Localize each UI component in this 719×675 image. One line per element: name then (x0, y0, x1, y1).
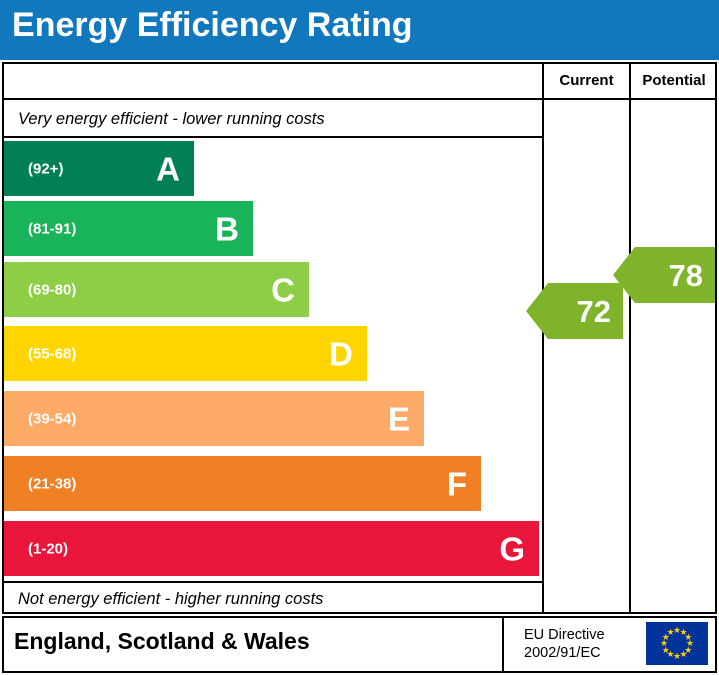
potential-rating-value: 78 (669, 260, 703, 291)
eu-star-icon: ★ (666, 628, 675, 637)
caption-bottom-divider (2, 581, 542, 583)
caption-top-divider (2, 136, 542, 138)
band-e-letter: E (388, 402, 410, 435)
band-a-letter: A (156, 152, 180, 185)
band-g-range: (1-20) (28, 540, 68, 557)
header-row-divider (2, 98, 717, 100)
epc-chart: Energy Efficiency Rating Current Potenti… (0, 0, 719, 675)
column-header-potential: Potential (631, 72, 717, 89)
band-f-letter: F (447, 467, 467, 500)
band-a: (92+) A (4, 141, 194, 196)
band-b: (81-91) B (4, 201, 253, 256)
band-c: (69-80) C (4, 262, 309, 317)
band-f-range: (21-38) (28, 475, 76, 492)
caption-bottom: Not energy efficient - higher running co… (18, 590, 323, 609)
band-e: (39-54) E (4, 391, 424, 446)
current-rating-marker: 72 (548, 283, 623, 339)
band-g-letter: G (499, 532, 525, 565)
eu-directive-label: EU Directive 2002/91/EC (524, 626, 605, 662)
footer-divider (502, 616, 504, 673)
chart-header: Energy Efficiency Rating (0, 0, 719, 60)
band-c-letter: C (271, 273, 295, 306)
eu-directive-line2: 2002/91/EC (524, 645, 601, 661)
eu-flag-icon: ★★★★★★★★★★★★ (646, 622, 708, 665)
band-g: (1-20) G (4, 521, 539, 576)
eu-directive-line1: EU Directive (524, 627, 605, 643)
column-divider-potential (629, 62, 631, 614)
current-marker-arrow-icon (526, 283, 548, 339)
current-rating-value: 72 (577, 296, 611, 327)
band-d-range: (55-68) (28, 345, 76, 362)
band-a-range: (92+) (28, 160, 63, 177)
potential-marker-arrow-icon (613, 247, 635, 303)
region-label: England, Scotland & Wales (14, 628, 310, 655)
band-c-range: (69-80) (28, 281, 76, 298)
band-b-range: (81-91) (28, 220, 76, 237)
band-b-letter: B (215, 212, 239, 245)
caption-top: Very energy efficient - lower running co… (18, 110, 325, 129)
page-title: Energy Efficiency Rating (12, 6, 413, 45)
band-e-range: (39-54) (28, 410, 76, 427)
potential-rating-marker: 78 (635, 247, 715, 303)
band-d-letter: D (329, 337, 353, 370)
band-f: (21-38) F (4, 456, 481, 511)
band-d: (55-68) D (4, 326, 367, 381)
column-header-current: Current (544, 72, 629, 89)
